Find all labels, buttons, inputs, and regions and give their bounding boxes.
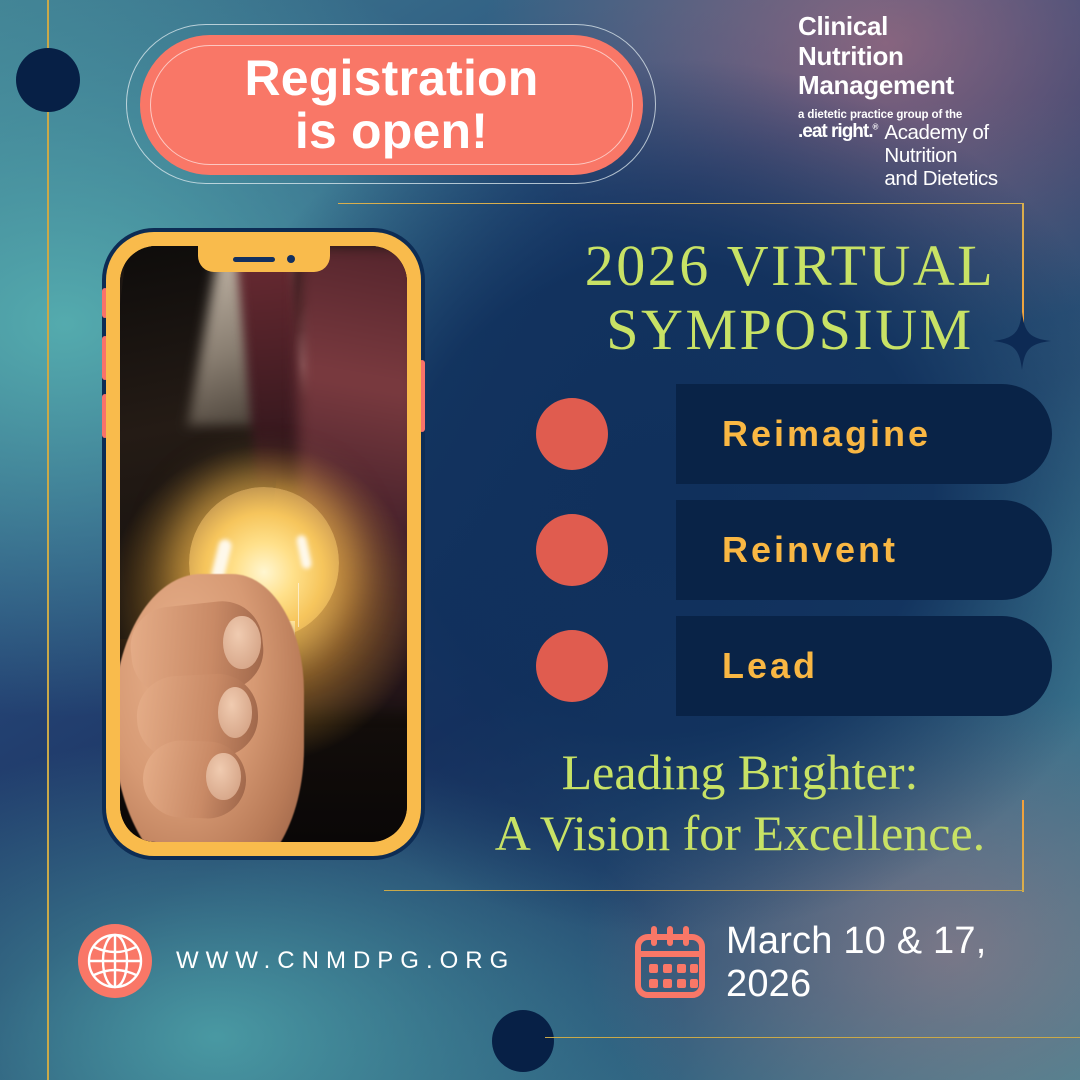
phone-frame xyxy=(106,232,421,856)
list-item: Reinvent xyxy=(536,500,1036,600)
academy-name: Academy of Nutrition and Dietetics xyxy=(884,121,1058,191)
phone-camera-icon xyxy=(287,255,295,263)
bullet-dot-icon xyxy=(536,514,608,586)
logo-line-1: Clinical xyxy=(798,12,1058,42)
logo-line-3: Management xyxy=(798,71,1058,101)
page-title: 2026 VIRTUAL SYMPOSIUM xyxy=(556,234,1024,362)
item-pill: Lead xyxy=(676,616,1052,716)
gold-rule-footer xyxy=(545,1037,1080,1038)
gold-vertical-rule xyxy=(47,0,49,1080)
title-line-1: 2026 VIRTUAL xyxy=(556,234,1024,298)
website-url[interactable]: WWW.CNMDPG.ORG xyxy=(176,947,515,975)
organization-logo: Clinical Nutrition Management a dietetic… xyxy=(798,12,1058,191)
list-item-label: Reinvent xyxy=(676,529,898,571)
banner-text-block: Registration is open! xyxy=(140,35,643,175)
banner-line-1: Registration xyxy=(244,52,538,105)
list-item-label: Reimagine xyxy=(676,413,931,455)
decorative-dot-bottom xyxy=(492,1010,554,1072)
decorative-dot-top-left xyxy=(16,48,80,112)
item-pill: Reimagine xyxy=(676,384,1052,484)
list-item-label: Lead xyxy=(676,645,818,687)
title-line-2: SYMPOSIUM xyxy=(556,298,1024,362)
eat-right-brandmark: .eat right.® xyxy=(798,121,877,141)
bullet-dot-icon xyxy=(536,630,608,702)
event-tagline: Leading Brighter: A Vision for Excellenc… xyxy=(440,742,1040,864)
phone-mockup xyxy=(106,232,421,856)
bullet-dot-icon xyxy=(536,398,608,470)
academy-line-2: and Dietetics xyxy=(884,167,1058,190)
website-block[interactable]: WWW.CNMDPG.ORG xyxy=(78,924,515,998)
tagline-line-2: A Vision for Excellence. xyxy=(440,803,1040,864)
phone-notch xyxy=(198,246,330,272)
theme-list: Reimagine Reinvent Lead xyxy=(536,384,1036,732)
gold-bracket-bottom-horizontal xyxy=(384,890,1024,891)
academy-lockup: .eat right.® Academy of Nutrition and Di… xyxy=(798,121,1058,191)
lightbulb-photo xyxy=(120,246,407,842)
poster-canvas: Registration is open! Clinical Nutrition… xyxy=(0,0,1080,1080)
tagline-line-1: Leading Brighter: xyxy=(440,742,1040,803)
event-date: March 10 & 17, 2026 xyxy=(726,920,1080,1006)
academy-line-1: Academy of Nutrition xyxy=(884,121,1058,168)
logo-line-2: Nutrition xyxy=(798,42,1058,72)
registration-banner: Registration is open! xyxy=(126,24,656,184)
date-block: March 10 & 17, 2026 xyxy=(630,920,1080,1006)
list-item: Reimagine xyxy=(536,384,1036,484)
banner-line-2: is open! xyxy=(295,105,488,158)
phone-speaker xyxy=(233,257,275,262)
gold-bracket-top-horizontal xyxy=(338,203,1024,204)
globe-icon xyxy=(78,924,152,998)
calendar-icon xyxy=(630,923,710,1003)
item-pill: Reinvent xyxy=(676,500,1052,600)
list-item: Lead xyxy=(536,616,1036,716)
phone-screen xyxy=(120,246,407,842)
